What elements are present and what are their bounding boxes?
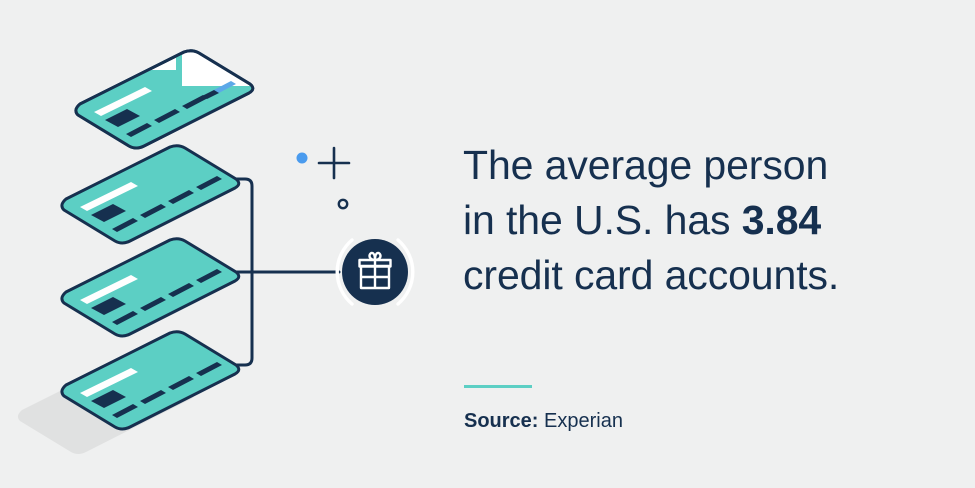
plus-sign-icon xyxy=(319,148,349,178)
credit-card-2 xyxy=(62,146,239,243)
source-label: Source: xyxy=(464,410,538,432)
headline-line-3: credit card accounts. xyxy=(463,252,839,298)
headline-line-2-prefix: in the U.S. has xyxy=(463,197,742,243)
page-headline: The average personin the U.S. has 3.84cr… xyxy=(463,138,923,303)
credit-card-stack-illustration xyxy=(0,0,460,488)
blue-dot-icon xyxy=(297,153,308,164)
headline-line-1: The average person xyxy=(463,142,828,188)
source-provider: Experian xyxy=(544,410,623,432)
source-divider xyxy=(464,385,532,388)
text-column: The average personin the U.S. has 3.84cr… xyxy=(463,0,963,488)
credit-card-3 xyxy=(62,239,239,336)
source-attribution: Source: Experian xyxy=(464,409,884,433)
stat-value: 3.84 xyxy=(742,197,821,243)
credit-card-1 xyxy=(54,40,264,160)
gift-badge xyxy=(337,239,413,305)
infographic-canvas: The average personin the U.S. has 3.84cr… xyxy=(0,0,975,488)
source-block: Source: Experian xyxy=(464,385,884,433)
small-circle-icon xyxy=(339,200,347,208)
